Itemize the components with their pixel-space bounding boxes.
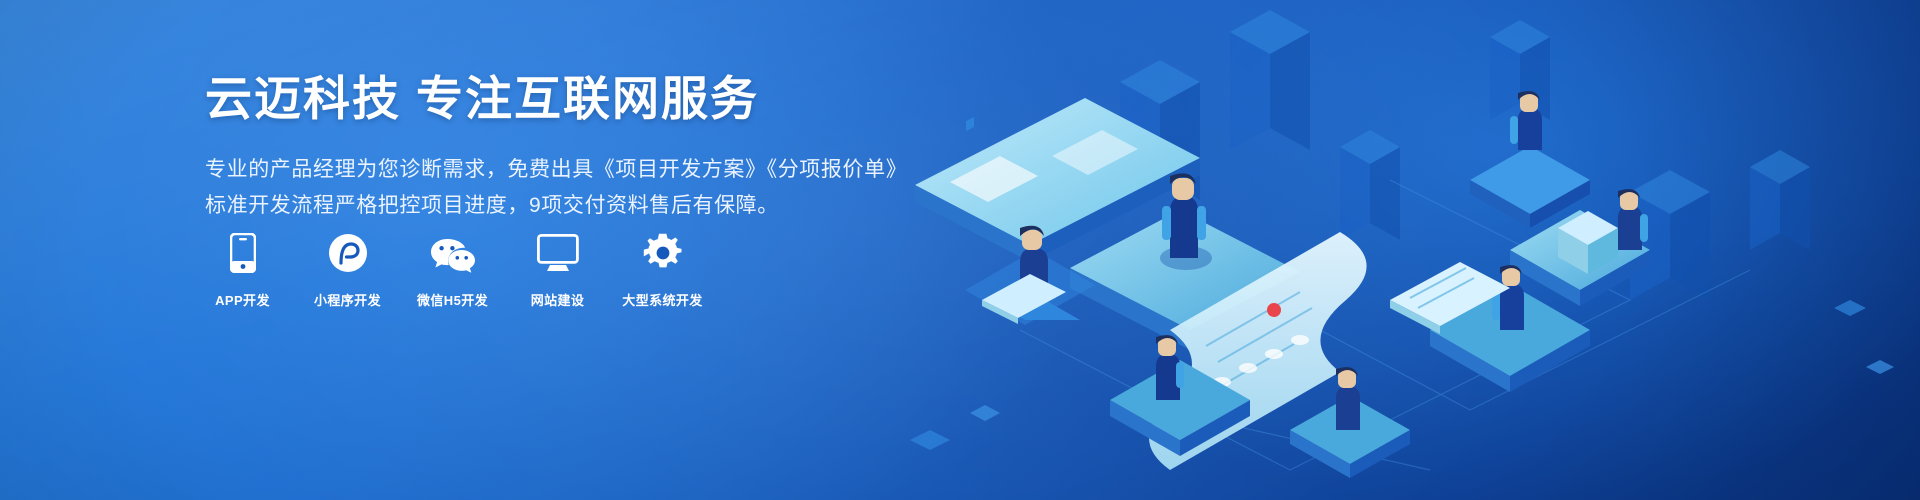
service-item-website[interactable]: 网站建设 <box>520 232 595 309</box>
subtitle-line-2: 标准开发流程严格把控项目进度，9项交付资料售后有保障。 <box>205 188 925 224</box>
hero-banner: 云迈科技 专注互联网服务 专业的产品经理为您诊断需求，免费出具《项目开发方案》《… <box>0 0 1920 500</box>
subtitle-line-1: 专业的产品经理为您诊断需求，免费出具《项目开发方案》《分项报价单》 <box>205 152 925 188</box>
service-item-app[interactable]: APP开发 <box>205 232 280 309</box>
service-item-wechat-h5[interactable]: 微信H5开发 <box>415 232 490 309</box>
mobile-phone-icon <box>230 232 256 274</box>
page-title: 云迈科技 专注互联网服务 <box>205 72 925 126</box>
person-seated-laptop <box>965 226 1095 325</box>
service-label: APP开发 <box>215 290 270 309</box>
service-label: 网站建设 <box>531 290 585 309</box>
monitor-icon <box>537 232 579 274</box>
service-label: 大型系统开发 <box>622 290 702 309</box>
service-label: 微信H5开发 <box>417 290 488 309</box>
isometric-illustration <box>870 0 1920 500</box>
service-label: 小程序开发 <box>314 290 381 309</box>
gear-icon <box>643 232 683 274</box>
hero-copy: 云迈科技 专注互联网服务 专业的产品经理为您诊断需求，免费出具《项目开发方案》《… <box>205 72 925 224</box>
service-item-large-system[interactable]: 大型系统开发 <box>625 232 700 309</box>
service-list: APP开发 小程序开发 微信 <box>205 232 700 309</box>
service-item-mini-program[interactable]: 小程序开发 <box>310 232 385 309</box>
wechat-icon <box>430 232 476 274</box>
mini-program-icon <box>328 232 368 274</box>
